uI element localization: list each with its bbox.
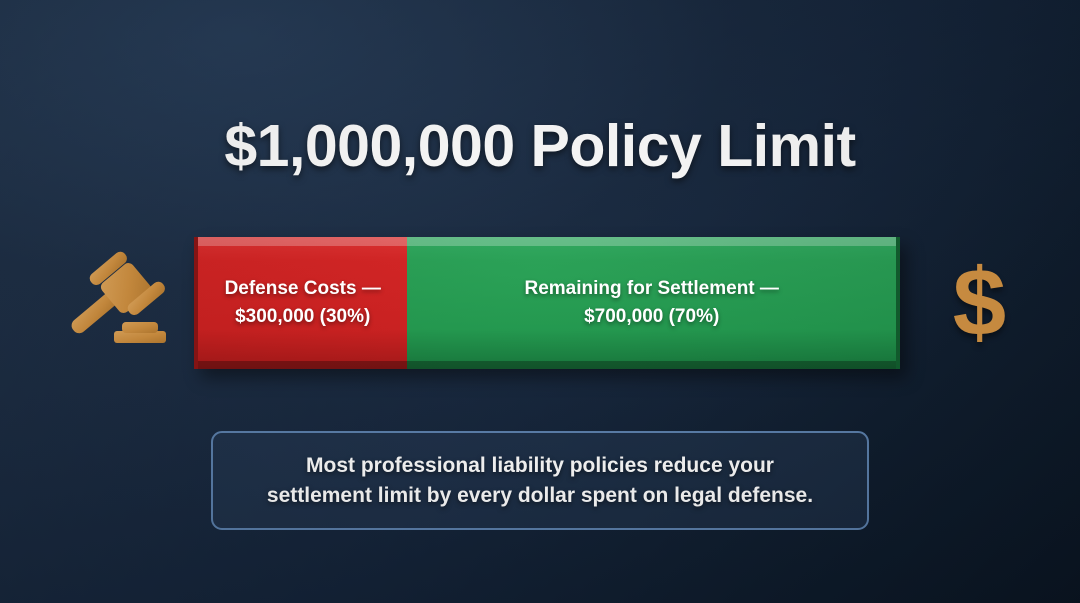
bar-segment-defense-label-line1: Defense Costs — [225, 275, 381, 303]
policy-limit-stacked-bar: Defense Costs — $300,000 (30%) Remaining… [194, 237, 900, 369]
bar-segment-remaining-label-line1: Remaining for Settlement — [524, 275, 778, 303]
dollar-sign-icon: $ [922, 243, 1037, 363]
caption-box: Most professional liability policies red… [211, 431, 869, 530]
caption-text: Most professional liability policies red… [267, 451, 813, 511]
bar-segment-defense: Defense Costs — $300,000 (30%) [194, 237, 407, 369]
caption-line-2: settlement limit by every dollar spent o… [267, 481, 813, 511]
bar-segment-remaining-label-line2: $700,000 (70%) [524, 303, 778, 331]
caption-line-1: Most professional liability policies red… [267, 451, 813, 481]
bar-segment-defense-label: Defense Costs — $300,000 (30%) [215, 275, 391, 330]
gavel-icon [58, 243, 176, 363]
page-title: $1,000,000 Policy Limit [0, 112, 1080, 180]
infographic-canvas: $1,000,000 Policy Limit [0, 0, 1080, 603]
bar-segment-remaining: Remaining for Settlement — $700,000 (70%… [407, 237, 900, 369]
bar-segment-defense-label-line2: $300,000 (30%) [225, 303, 381, 331]
bar-segment-remaining-label: Remaining for Settlement — $700,000 (70%… [514, 275, 788, 330]
